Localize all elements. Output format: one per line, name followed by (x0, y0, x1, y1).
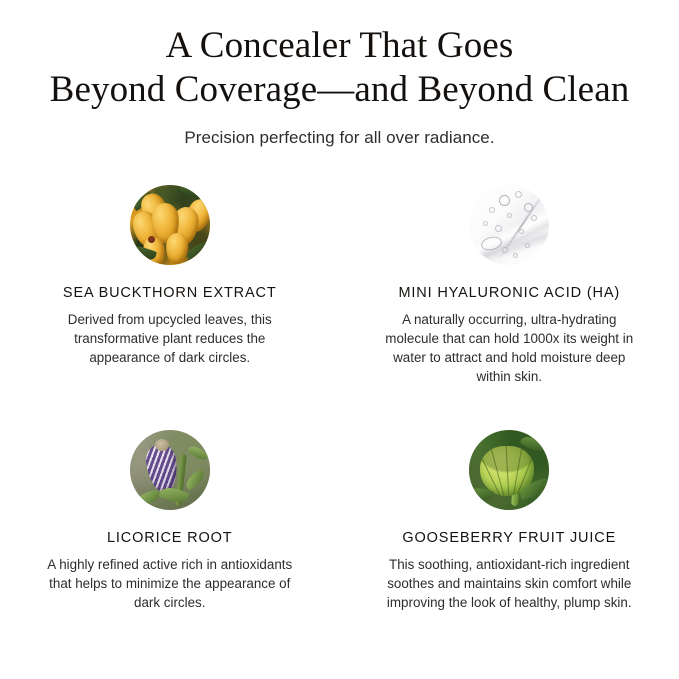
sea-buckthorn-image (130, 185, 210, 265)
ingredient-card-licorice-root: LICORICE ROOT A highly refined active ri… (0, 415, 340, 660)
ingredient-description: Derived from upcycled leaves, this trans… (45, 310, 295, 367)
header: A Concealer That Goes Beyond Coverage—an… (0, 0, 679, 150)
hyaluronic-acid-image (469, 185, 549, 265)
bubble-shape (515, 191, 522, 198)
ingredient-card-gooseberry: GOOSEBERRY FRUIT JUICE This soothing, an… (340, 415, 679, 660)
ingredient-name: MINI HYALURONIC ACID (HA) (398, 285, 620, 301)
ingredient-card-sea-buckthorn: SEA BUCKTHORN EXTRACT Derived from upcyc… (0, 170, 340, 415)
ingredient-card-hyaluronic-acid: MINI HYALURONIC ACID (HA) A naturally oc… (340, 170, 679, 415)
ingredient-description: This soothing, antioxidant-rich ingredie… (380, 555, 638, 612)
ingredient-description: A highly refined active rich in antioxid… (45, 555, 295, 612)
hyaluronic-acid-scene (469, 185, 549, 265)
leaf-shape (187, 443, 209, 464)
bubble-shape (489, 207, 495, 213)
bubble-shape (499, 195, 510, 206)
page-title-line-2: Beyond Coverage—and Beyond Clean (20, 68, 660, 112)
ingredient-name: GOOSEBERRY FRUIT JUICE (402, 530, 616, 546)
page-title-line-1: A Concealer That Goes (20, 24, 660, 68)
bubble-shape (483, 221, 488, 226)
ingredient-name: SEA BUCKTHORN EXTRACT (63, 285, 277, 301)
bubble-shape (507, 213, 512, 218)
leaf-shape (135, 490, 161, 507)
ingredient-grid: SEA BUCKTHORN EXTRACT Derived from upcyc… (0, 170, 679, 660)
bubble-shape (513, 253, 518, 258)
licorice-root-image (130, 430, 210, 510)
berry-shape (165, 232, 189, 264)
berry-calyx-dot (148, 236, 155, 243)
page-subtitle: Precision perfecting for all over radian… (0, 127, 679, 150)
leaf-shape (183, 469, 207, 491)
ingredient-benefits-panel: A Concealer That Goes Beyond Coverage—an… (0, 0, 679, 679)
licorice-root-scene (130, 430, 210, 510)
gooseberry-image (469, 430, 549, 510)
flower-tip-shape (155, 439, 169, 451)
page-title: A Concealer That Goes Beyond Coverage—an… (20, 24, 660, 111)
ingredient-description: A naturally occurring, ultra-hydrating m… (380, 310, 638, 387)
ingredient-name: LICORICE ROOT (107, 530, 232, 546)
sea-buckthorn-scene (130, 185, 210, 265)
gooseberry-scene (469, 430, 549, 510)
